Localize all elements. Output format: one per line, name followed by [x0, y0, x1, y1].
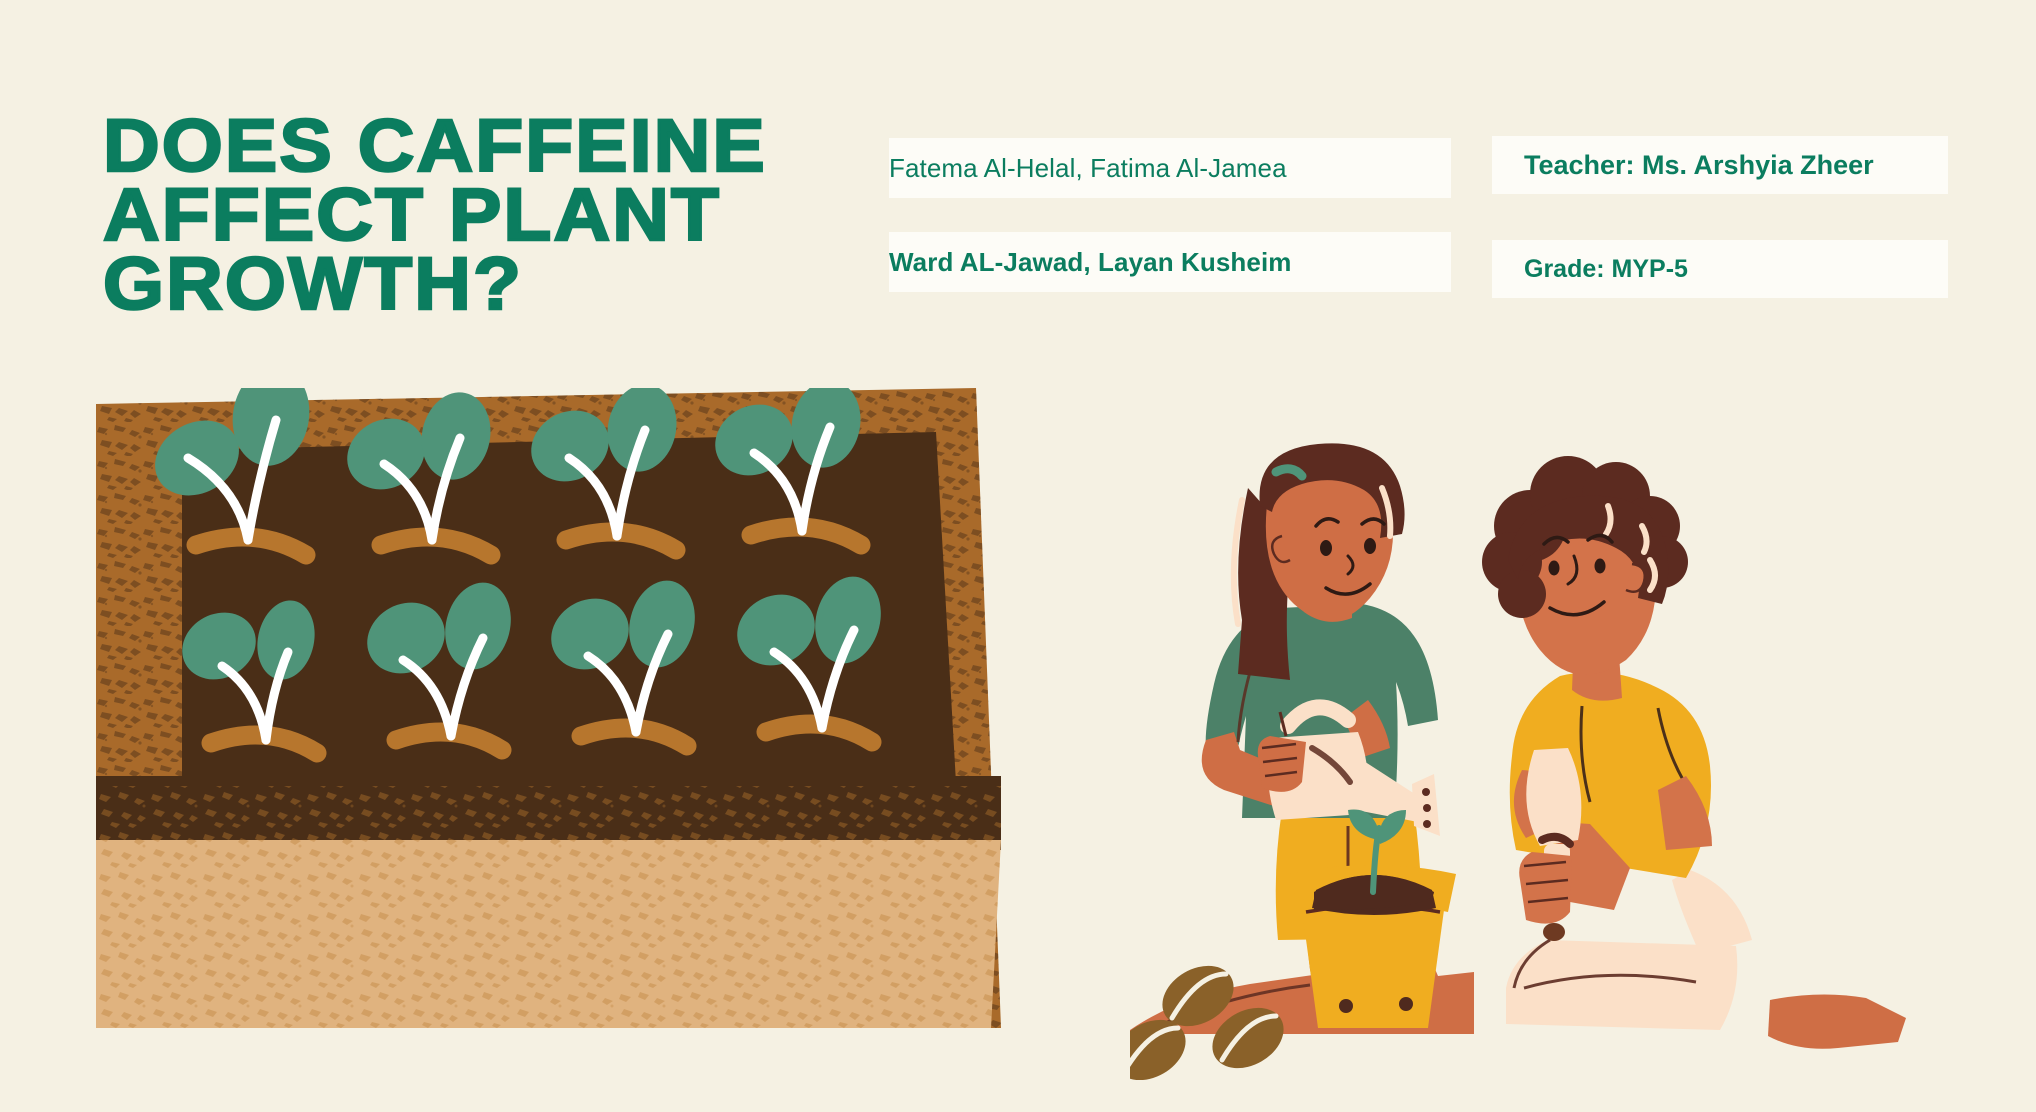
title-line-1: DOES CAFFEINE	[103, 112, 909, 181]
teacher-label: Teacher: Ms. Arshyia Zheer	[1524, 150, 1948, 181]
students-line-1-box: Fatema Al-Helal, Fatima Al-Jamea	[889, 138, 1451, 198]
title-line-2: AFFECT PLANT	[103, 181, 909, 250]
teacher-box: Teacher: Ms. Arshyia Zheer	[1492, 136, 1948, 194]
boy-with-trowel	[1482, 456, 1906, 1049]
page-title: DOES CAFFEINE AFFECT PLANT GROWTH?	[103, 112, 909, 318]
seedling-planter-illustration	[96, 388, 1026, 1028]
students-line-2-label: Ward AL-Jawad, Layan Kusheim	[889, 247, 1451, 278]
grade-label: Grade: MYP-5	[1524, 255, 1948, 284]
students-line-2-box: Ward AL-Jawad, Layan Kusheim	[889, 232, 1451, 292]
poster-canvas: DOES CAFFEINE AFFECT PLANT GROWTH? Fatem…	[0, 0, 2036, 1112]
planter-front-panel	[96, 840, 1001, 1028]
children-gardening-illustration	[1130, 440, 1960, 1080]
title-line-3: GROWTH?	[103, 250, 909, 319]
grade-box: Grade: MYP-5	[1492, 240, 1948, 298]
students-line-1-label: Fatema Al-Helal, Fatima Al-Jamea	[889, 153, 1451, 184]
